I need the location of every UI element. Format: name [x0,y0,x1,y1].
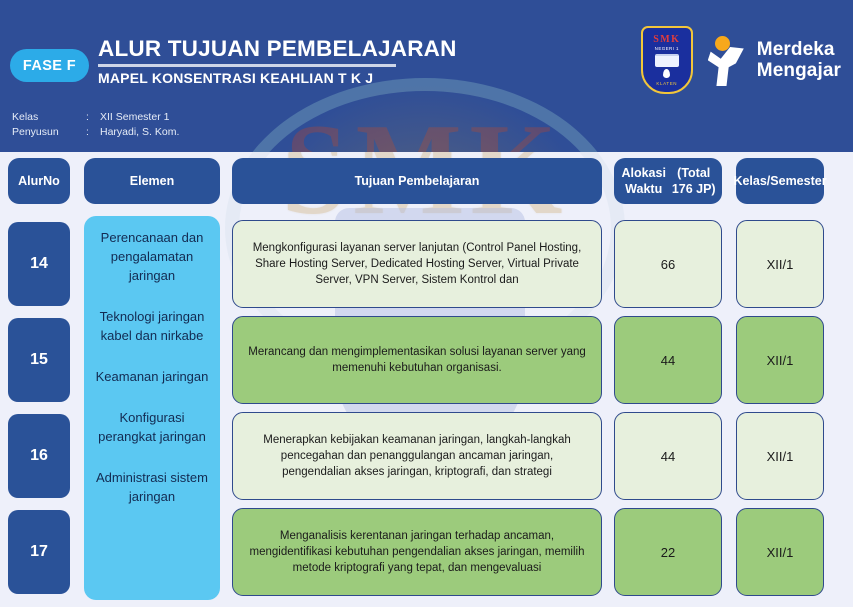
header-elemen-label: Elemen [130,173,174,189]
table-row: Menerapkan kebijakan keamanan jaringan, … [226,408,608,504]
table-header-row: Alur No Elemen Tujuan Pembelajaran Aloka… [0,152,853,210]
meta-key-penyusun: Penyusun [12,125,86,140]
kelas-column: XII/1 XII/1 XII/1 XII/1 [728,216,832,600]
tujuan-cell-16: Menerapkan kebijakan keamanan jaringan, … [232,412,602,500]
table-body: 14 15 16 17 Perencanaan dan pengalamatan… [0,210,853,600]
header-kelas-line2: Semester [770,173,826,189]
meta-sep-penyusun: : [86,125,100,140]
alokasi-cell-15: 44 [614,316,722,404]
header-alur-line1: Alur [18,173,43,189]
tujuan-cell-15: Merancang dan mengimplementasikan solusi… [232,316,602,404]
header-alokasi-line2: (Total 176 JP) [669,165,718,197]
table-row: 44 [608,312,728,408]
tujuan-cell-14: Mengkonfigurasi layanan server lanjutan … [232,220,602,308]
elemen-item-1: Teknologi jaringan kabel dan nirkabe [90,307,214,345]
alur-no-14: 14 [8,222,70,306]
meta-info: Kelas : XII Semester 1 Penyusun : Haryad… [12,110,179,140]
header-cell-alokasi: Alokasi Waktu (Total 176 JP) [608,158,728,204]
header-cell-kelas: Kelas/ Semester [728,158,832,204]
atp-table: Alur No Elemen Tujuan Pembelajaran Aloka… [0,152,853,600]
elemen-item-2: Keamanan jaringan [90,367,214,386]
table-row: 22 [608,504,728,600]
meta-value-penyusun: Haryadi, S. Kom. [100,125,179,140]
shield-smk-text: SMK [653,34,680,45]
header-cell-alur-no: Alur No [0,158,78,204]
table-row: 16 [0,408,78,504]
meta-row-penyusun: Penyusun : Haryadi, S. Kom. [12,125,179,140]
logo-group: SMK NEGERI 1 KLATEN Merdeka Mengajar [641,26,841,94]
alokasi-column: 66 44 44 22 [608,216,728,600]
shield-flame-icon [663,69,670,78]
elemen-item-3: Konfigurasi perangkat jaringan [90,408,214,446]
mm-figure [708,47,744,86]
meta-value-kelas: XII Semester 1 [100,110,169,125]
elemen-merged-cell: Perencanaan dan pengalamatan jaringan Te… [78,216,226,600]
alokasi-cell-17: 22 [614,508,722,596]
kelas-cell-17: XII/1 [736,508,824,596]
meta-row-kelas: Kelas : XII Semester 1 [12,110,179,125]
table-row: 14 [0,216,78,312]
table-row: Menganalisis kerentanan jaringan terhada… [226,504,608,600]
merdeka-mengajar-logo: Merdeka Mengajar [706,34,841,86]
title-divider [98,64,396,67]
page-subtitle: MAPEL KONSENTRASI KEAHLIAN T K J [98,70,457,86]
alur-no-17: 17 [8,510,70,594]
merdeka-mengajar-icon [706,34,748,86]
header-tujuan-label: Tujuan Pembelajaran [355,173,480,189]
kelas-cell-14: XII/1 [736,220,824,308]
header-kelas-line1: Kelas/ [733,173,770,189]
header-cell-elemen: Elemen [78,158,226,204]
elemen-item-0: Perencanaan dan pengalamatan jaringan [90,228,214,285]
header-alur-line2: No [43,173,60,189]
page-title: ALUR TUJUAN PEMBELAJARAN [98,36,457,62]
title-block: ALUR TUJUAN PEMBELAJARAN MAPEL KONSENTRA… [98,36,457,86]
fase-badge: FASE F [10,49,89,82]
kelas-cell-16: XII/1 [736,412,824,500]
shield-negeri-text: NEGERI 1 [655,46,679,51]
meta-sep-kelas: : [86,110,100,125]
alur-no-15: 15 [8,318,70,402]
table-row: 44 [608,408,728,504]
header-alokasi-line1: Alokasi Waktu [618,165,669,197]
table-row: 17 [0,504,78,600]
table-row: Mengkonfigurasi layanan server lanjutan … [226,216,608,312]
header-cell-tujuan: Tujuan Pembelajaran [226,158,608,204]
table-row: 15 [0,312,78,408]
mm-head-dot [715,36,730,51]
alokasi-cell-14: 66 [614,220,722,308]
meta-key-kelas: Kelas [12,110,86,125]
alur-no-column: 14 15 16 17 [0,216,78,600]
kelas-cell-15: XII/1 [736,316,824,404]
mm-line1: Merdeka [757,39,841,60]
elemen-item-4: Administrasi sistem jaringan [90,468,214,506]
alur-no-16: 16 [8,414,70,498]
table-row: XII/1 [728,408,832,504]
header-watermark-text: SMK [225,100,625,152]
table-row: XII/1 [728,216,832,312]
table-row: XII/1 [728,312,832,408]
alokasi-cell-16: 44 [614,412,722,500]
atp-slide: SMK SMK FASE F ALUR TUJUAN PEMBELAJARAN … [0,0,853,607]
tujuan-cell-17: Menganalisis kerentanan jaringan terhada… [232,508,602,596]
merdeka-mengajar-wordmark: Merdeka Mengajar [757,39,841,81]
shield-city-text: KLATEN [656,81,677,86]
shield-book-icon [655,54,679,67]
table-row: XII/1 [728,504,832,600]
tujuan-column: Mengkonfigurasi layanan server lanjutan … [226,216,608,600]
table-row: Merancang dan mengimplementasikan solusi… [226,312,608,408]
school-shield-icon: SMK NEGERI 1 KLATEN [641,26,693,94]
table-row: 66 [608,216,728,312]
mm-line2: Mengajar [757,60,841,81]
